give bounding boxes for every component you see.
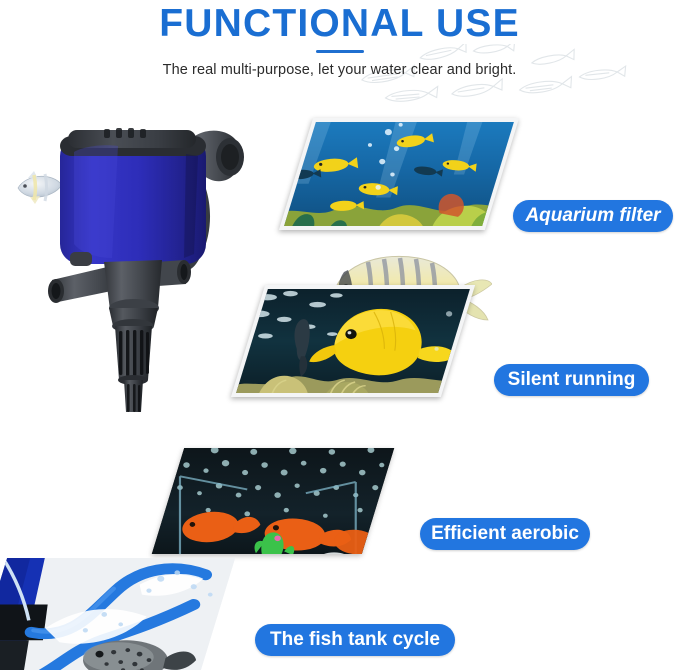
infographic-page: FUNCTIONAL USE The real multi-purpose, l… bbox=[0, 0, 679, 665]
pump-body bbox=[60, 128, 206, 264]
feature-tile-efficient-aerobic bbox=[168, 448, 378, 554]
badge-label: Efficient aerobic bbox=[431, 523, 579, 545]
badge-silent-running[interactable]: Silent running bbox=[494, 364, 649, 396]
pump-intake-strainer bbox=[115, 326, 152, 412]
badge-label: The fish tank cycle bbox=[270, 629, 440, 651]
tile-frame bbox=[231, 285, 475, 397]
badge-label: Silent running bbox=[508, 369, 636, 391]
tile-frame bbox=[279, 118, 519, 230]
tile-photo-yellow-tang bbox=[236, 289, 470, 393]
tile-photo-aquarium bbox=[284, 122, 514, 226]
tile-frame bbox=[152, 448, 394, 554]
header: FUNCTIONAL USE The real multi-purpose, l… bbox=[0, 0, 679, 110]
tile-photo-hose-splash bbox=[0, 558, 235, 670]
tile-frame bbox=[0, 558, 235, 670]
page-title: FUNCTIONAL USE bbox=[0, 2, 679, 46]
tile-photo-goldfish-aeration bbox=[152, 448, 394, 554]
feature-tile-fish-tank-cycle bbox=[0, 558, 218, 670]
badge-fish-tank-cycle[interactable]: The fish tank cycle bbox=[255, 624, 455, 656]
badge-efficient-aerobic[interactable]: Efficient aerobic bbox=[420, 518, 590, 550]
page-subtitle: The real multi-purpose, let your water c… bbox=[0, 60, 679, 80]
feature-tile-aquarium-filter bbox=[296, 118, 502, 230]
feature-tile-silent-running bbox=[248, 285, 458, 397]
pump-neck bbox=[104, 260, 162, 333]
title-divider bbox=[316, 50, 364, 53]
badge-aquarium-filter[interactable]: Aquarium filter bbox=[513, 200, 673, 232]
product-image-pump bbox=[8, 112, 258, 412]
badge-label: Aquarium filter bbox=[525, 205, 660, 227]
pump-knob bbox=[70, 252, 92, 266]
